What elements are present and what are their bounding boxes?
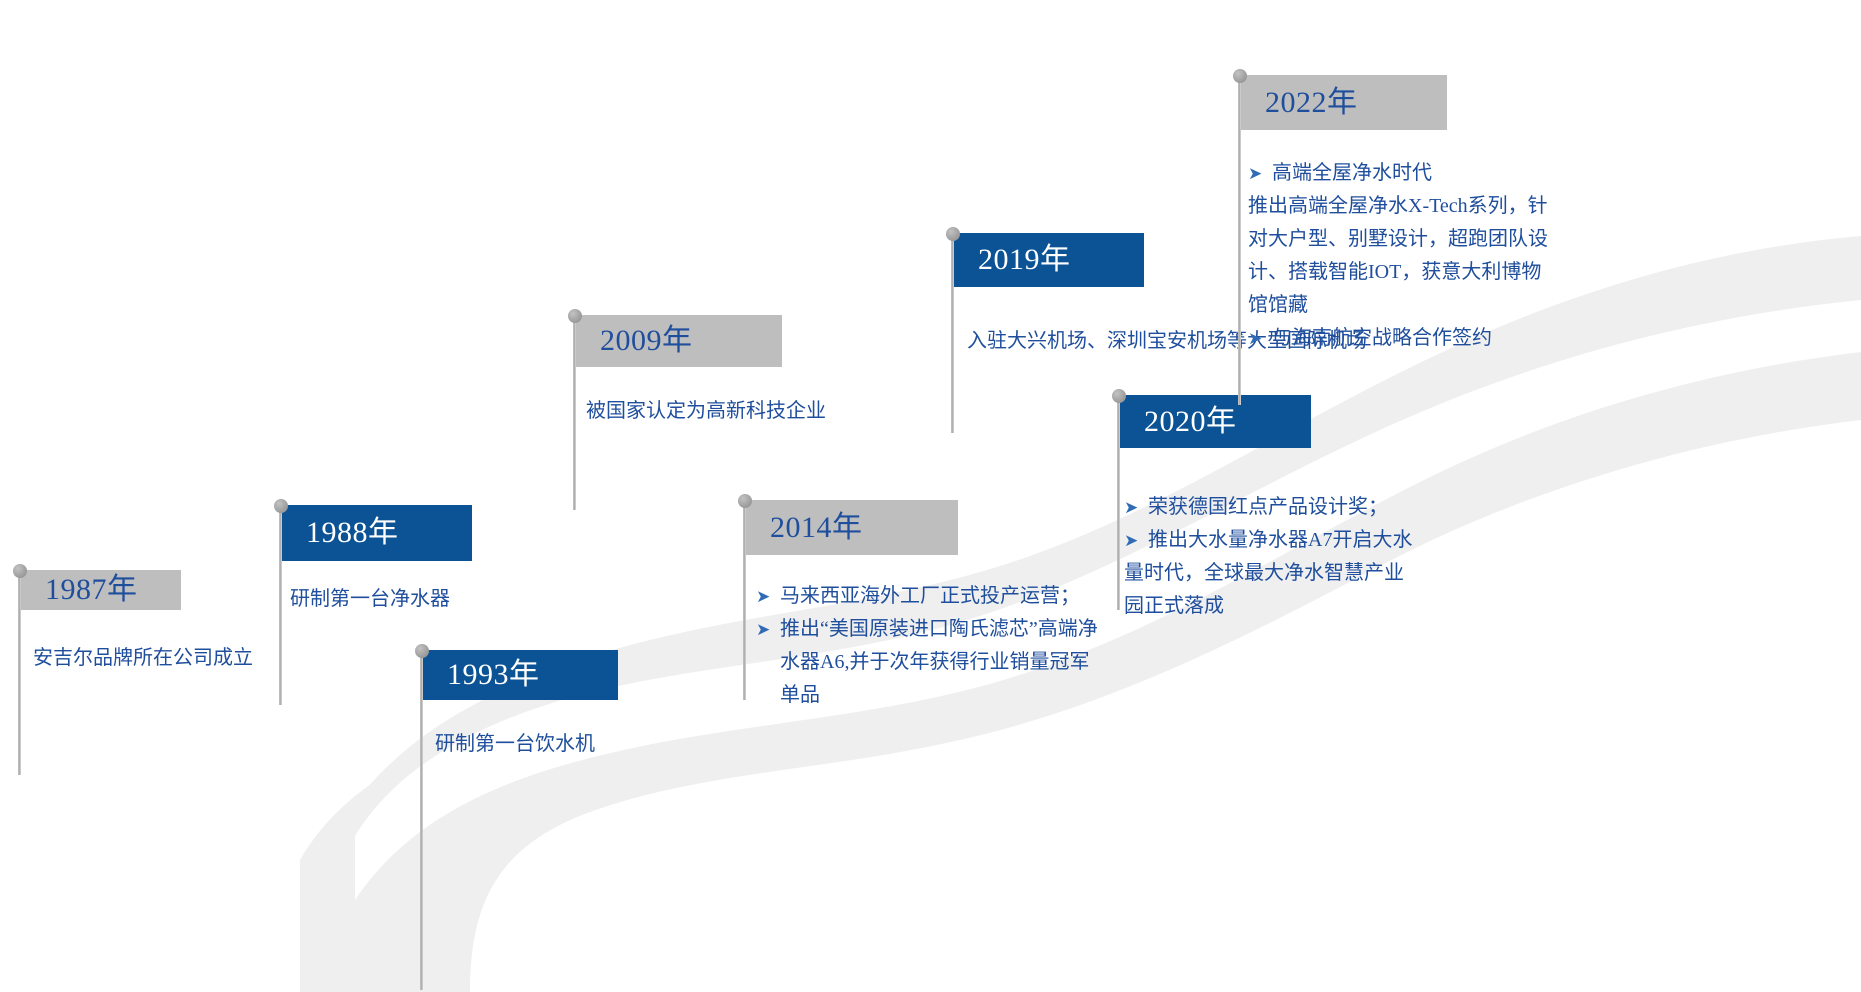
- bullet-item-plain: 推出高端全屋净水X-Tech系列，针对大户型、别墅设计，超跑团队设计、搭载智能I…: [1248, 190, 1558, 322]
- milestone-description: 研制第一台净水器: [290, 583, 590, 616]
- year-banner[interactable]: 1993年: [423, 650, 618, 700]
- year-label: 2022年: [1241, 88, 1358, 118]
- arrow-bullet-icon: ➤: [756, 580, 780, 613]
- description-line: 安吉尔品牌所在公司成立: [33, 642, 353, 675]
- arrow-bullet-icon: ➤: [1248, 322, 1272, 355]
- bullet-item: ➤ 荣获德国红点产品设计奖；: [1124, 491, 1414, 524]
- year-label: 1988年: [282, 518, 399, 548]
- arrow-bullet-icon: ➤: [1124, 524, 1148, 557]
- year-label: 1993年: [423, 660, 540, 690]
- year-label: 1987年: [21, 575, 138, 605]
- bullet-text: 与海南航空战略合作签约: [1272, 322, 1558, 355]
- milestone-bullet-list: ➤ 马来西亚海外工厂正式投产运营； ➤ 推出“美国原装进口陶氏滤芯”高端净水器A…: [756, 580, 1106, 712]
- year-banner[interactable]: 1988年: [282, 505, 472, 561]
- milestone-bullet-list: ➤ 高端全屋净水时代 推出高端全屋净水X-Tech系列，针对大户型、别墅设计，超…: [1248, 157, 1558, 355]
- milestone-description: 被国家认定为高新科技企业: [586, 395, 916, 428]
- year-banner[interactable]: 1987年: [21, 570, 181, 610]
- pole-knob-icon: [1112, 389, 1126, 403]
- pole-knob-icon: [946, 227, 960, 241]
- year-label: 2019年: [954, 245, 1071, 275]
- bullet-item: ➤推出大水量净水器A7开启大水量时代，全球最大净水智慧产业园正式落成: [1124, 524, 1414, 623]
- arrow-bullet-icon: ➤: [1248, 157, 1272, 190]
- year-banner[interactable]: 2009年: [576, 315, 782, 367]
- bullet-item: ➤ 马来西亚海外工厂正式投产运营；: [756, 580, 1106, 613]
- bullet-text: 推出大水量净水器A7开启大水量时代，全球最大净水智慧产业园正式落成: [1124, 529, 1412, 617]
- bullet-text: 高端全屋净水时代: [1272, 157, 1558, 190]
- pole-knob-icon: [568, 309, 582, 323]
- description-line: 被国家认定为高新科技企业: [586, 395, 916, 428]
- year-banner[interactable]: 2014年: [746, 500, 958, 555]
- milestone-bullet-list: ➤ 荣获德国红点产品设计奖； ➤推出大水量净水器A7开启大水量时代，全球最大净水…: [1124, 491, 1414, 623]
- description-line: 研制第一台净水器: [290, 583, 590, 616]
- milestone-description: 安吉尔品牌所在公司成立: [33, 642, 353, 675]
- bullet-text: 推出“美国原装进口陶氏滤芯”高端净水器A6,并于次年获得行业销量冠军单品: [780, 613, 1106, 712]
- year-banner[interactable]: 2022年: [1241, 75, 1447, 130]
- description-line: 研制第一台饮水机: [435, 728, 735, 761]
- year-banner[interactable]: 2020年: [1120, 395, 1311, 448]
- timeline-canvas: 1987年 安吉尔品牌所在公司成立 1988年 研制第一台净水器 1993年 研…: [0, 0, 1861, 992]
- milestone-description: 研制第一台饮水机: [435, 728, 735, 761]
- year-label: 2009年: [576, 326, 693, 356]
- year-banner[interactable]: 2019年: [954, 233, 1144, 287]
- year-label: 2020年: [1120, 407, 1237, 437]
- arrow-bullet-icon: ➤: [1124, 491, 1148, 524]
- pole-knob-icon: [1233, 69, 1247, 83]
- background-road-swoosh: [0, 0, 1861, 992]
- bullet-item: ➤ 高端全屋净水时代: [1248, 157, 1558, 190]
- arrow-bullet-icon: ➤: [756, 613, 780, 646]
- bullet-item: ➤ 与海南航空战略合作签约: [1248, 322, 1558, 355]
- pole-knob-icon: [738, 494, 752, 508]
- bullet-item: ➤ 推出“美国原装进口陶氏滤芯”高端净水器A6,并于次年获得行业销量冠军单品: [756, 613, 1106, 712]
- pole-knob-icon: [13, 564, 27, 578]
- pole-knob-icon: [415, 644, 429, 658]
- bullet-text: 马来西亚海外工厂正式投产运营；: [780, 580, 1106, 613]
- year-label: 2014年: [746, 513, 863, 543]
- pole-knob-icon: [274, 499, 288, 513]
- bullet-text: 荣获德国红点产品设计奖；: [1148, 491, 1414, 524]
- flag-pole: [420, 650, 423, 990]
